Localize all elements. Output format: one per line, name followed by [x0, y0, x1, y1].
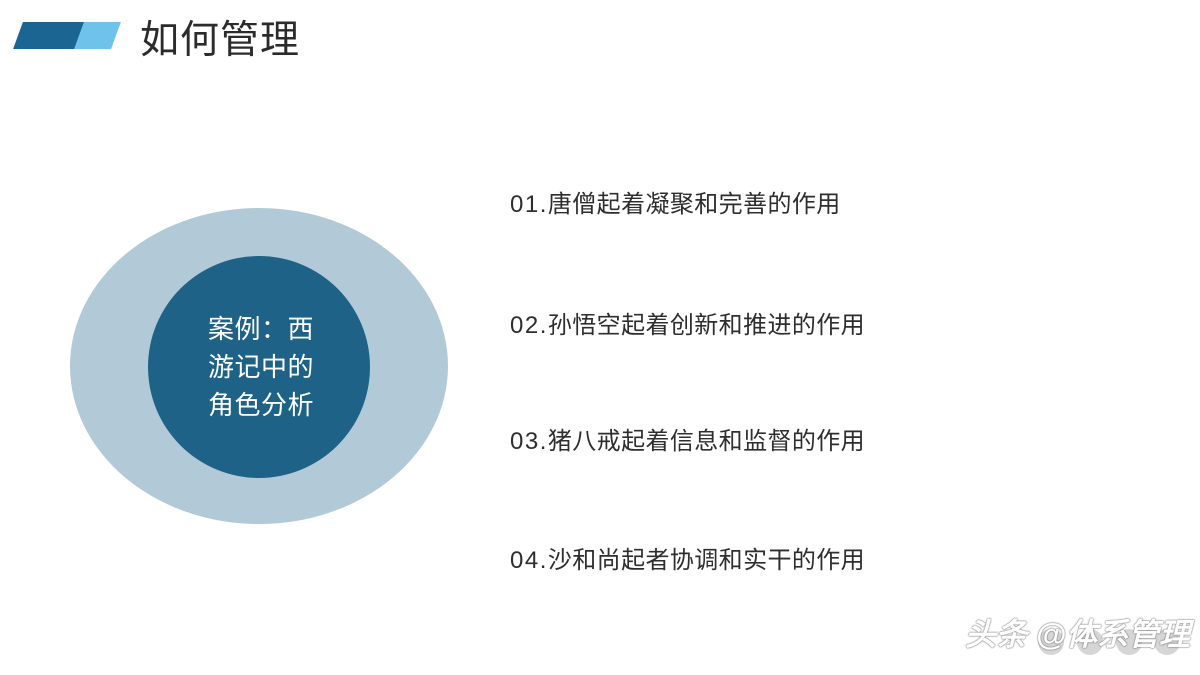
list-item: 03.猪八戒起着信息和监督的作用 [510, 425, 865, 459]
inner-circle-label-line-1: 案例：西 [208, 310, 314, 348]
watermark-text: 头条 @体系管理 [965, 613, 1190, 657]
watermark: 头条 @体系管理 [965, 609, 1190, 661]
point-text: 唐僧起着凝聚和完善的作用 [548, 191, 841, 218]
point-number: 04. [510, 547, 548, 574]
point-text: 孙悟空起着创新和推进的作用 [548, 312, 865, 339]
list-item: 04.沙和尚起者协调和实干的作用 [510, 544, 865, 578]
inner-circle-label: 案例：西 游记中的 角色分析 [148, 256, 370, 478]
list-item: 01.唐僧起着凝聚和完善的作用 [510, 188, 841, 222]
point-number: 02. [510, 312, 548, 339]
logo-segment-dark [13, 22, 85, 49]
point-text: 猪八戒起着信息和监督的作用 [548, 428, 865, 455]
inner-circle-label-line-2: 游记中的 [208, 348, 314, 386]
logo-segment-light [74, 22, 121, 49]
point-text: 沙和尚起者协调和实干的作用 [548, 547, 865, 574]
slide-header: 如何管理 [0, 0, 1200, 92]
list-item: 02.孙悟空起着创新和推进的作用 [510, 309, 865, 343]
page-title: 如何管理 [140, 14, 300, 68]
slide-canvas: 如何管理 案例：西 游记中的 角色分析 01.唐僧起着凝聚和完善的作用 02.孙… [0, 0, 1200, 675]
points-list: 01.唐僧起着凝聚和完善的作用 02.孙悟空起着创新和推进的作用 03.猪八戒起… [510, 178, 1150, 598]
parallelogram-logo-icon [8, 22, 116, 49]
inner-circle-label-line-3: 角色分析 [208, 386, 314, 424]
point-number: 03. [510, 428, 548, 455]
case-circle-diagram: 案例：西 游记中的 角色分析 [70, 208, 448, 524]
point-number: 01. [510, 191, 548, 218]
